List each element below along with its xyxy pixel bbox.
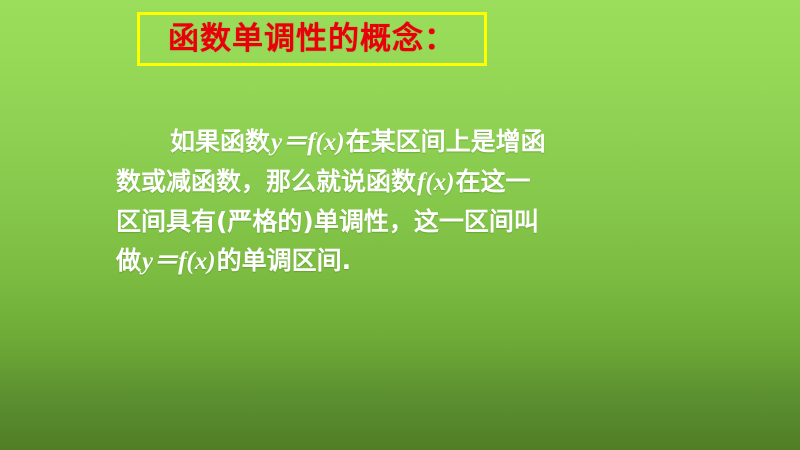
body-line-1: 如果函数y＝f(x)在某区间上是增函 <box>116 122 676 162</box>
title-box: 函数单调性的概念： <box>137 12 487 66</box>
page-title: 函数单调性的概念： <box>168 24 456 55</box>
slide-canvas: 函数单调性的概念： 如果函数y＝f(x)在某区间上是增函 数或减函数，那么就说函… <box>0 0 800 450</box>
body-line-2-math: f(x) <box>416 169 455 196</box>
body-line-3: 区间具有(严格的)单调性，这一区间叫 <box>116 202 676 241</box>
body-line-4-math: y＝f(x) <box>141 248 217 275</box>
body-line-4: 做y＝f(x)的单调区间. <box>116 241 676 281</box>
body-line-4-text-b: 的单调区间. <box>217 246 352 275</box>
body-line-2-text-a: 数或减函数，那么就说函数 <box>116 167 416 196</box>
body-line-1-math: y＝f(x) <box>270 129 346 156</box>
body-line-3-text: 区间具有(严格的)单调性，这一区间叫 <box>116 207 539 236</box>
definition-body: 如果函数y＝f(x)在某区间上是增函 数或减函数，那么就说函数f(x)在这一 区… <box>116 122 676 281</box>
body-line-1-text-b: 在某区间上是增函 <box>346 127 546 156</box>
body-line-1-text-a: 如果函数 <box>170 127 270 156</box>
body-line-4-text-a: 做 <box>116 246 141 275</box>
body-line-2: 数或减函数，那么就说函数f(x)在这一 <box>116 162 676 202</box>
body-line-2-text-b: 在这一 <box>456 167 531 196</box>
